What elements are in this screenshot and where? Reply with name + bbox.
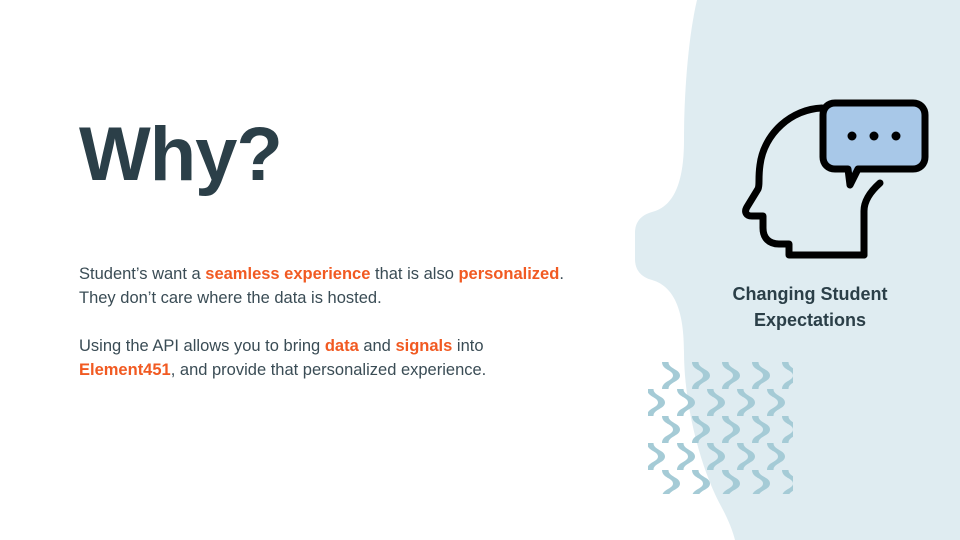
- pattern-glyph-grid: [648, 362, 793, 494]
- body-paragraph-1: Student’s want a seamless experience tha…: [79, 262, 569, 310]
- emphasis-run: signals: [395, 337, 452, 355]
- slide: Why? Student’s want a seamless experienc…: [0, 0, 960, 540]
- text-run: , and provide that personalized experien…: [171, 361, 487, 379]
- text-run: Using the API allows you to bring: [79, 337, 325, 355]
- emphasis-run: seamless experience: [205, 265, 370, 283]
- head-neck-line: [864, 183, 880, 255]
- text-column: Why? Student’s want a seamless experienc…: [79, 0, 579, 540]
- chevron-wave-pattern: [648, 362, 793, 494]
- illustration-caption: Changing Student Expectations: [690, 281, 930, 333]
- caption-line-1: Changing Student: [733, 284, 888, 304]
- text-run: that is also: [370, 265, 458, 283]
- bubble-dot: [892, 132, 901, 141]
- emphasis-run: personalized: [458, 265, 559, 283]
- text-run: into: [452, 337, 483, 355]
- body-paragraph-2: Using the API allows you to bring data a…: [79, 334, 569, 382]
- text-run: Student’s want a: [79, 265, 205, 283]
- thinking-head-illustration: [740, 95, 930, 265]
- bubble-dot: [870, 132, 879, 141]
- emphasis-run: data: [325, 337, 359, 355]
- emphasis-run: Element451: [79, 361, 171, 379]
- bubble-dot: [848, 132, 857, 141]
- speech-bubble-icon: [823, 103, 925, 185]
- text-run: and: [359, 337, 396, 355]
- page-title: Why?: [79, 117, 282, 193]
- caption-line-2: Expectations: [754, 310, 866, 330]
